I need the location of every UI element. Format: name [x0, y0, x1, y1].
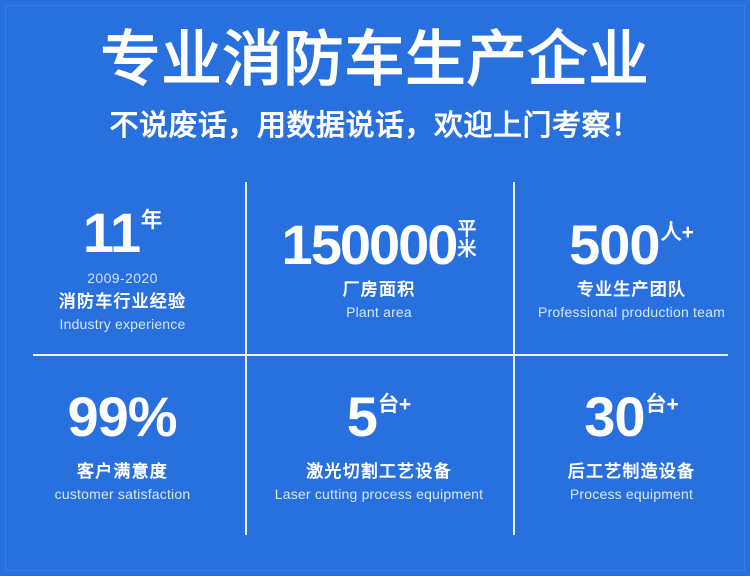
stat-cell-customer-satisfaction: 99% 客户满意度 customer satisfaction [0, 355, 245, 536]
stat-unit [177, 390, 178, 394]
stat-number: 99% [67, 390, 176, 443]
stat-number-row: 11 年 [83, 206, 162, 259]
stat-number-row: 150000 平 米 [282, 218, 477, 271]
stat-unit: 台+ [645, 390, 679, 415]
stat-label-cn: 消防车行业经验 [59, 293, 186, 310]
stat-label-cn: 厂房面积 [343, 281, 416, 298]
stat-number: 30 [584, 390, 644, 443]
banner-header: 专业消防车生产企业 不说废话，用数据说话，欢迎上门考察！ [0, 0, 750, 141]
stat-number: 5 [347, 390, 377, 443]
stat-label-cn: 后工艺制造设备 [568, 463, 695, 480]
stat-unit: 平 米 [456, 218, 476, 260]
stat-label-cn: 专业生产团队 [577, 281, 686, 298]
stat-number-row: 500 人+ [569, 218, 694, 271]
stat-unit-char-2: 米 [457, 240, 476, 260]
stat-cell-process-equipment: 30 台+ 后工艺制造设备 Process equipment [513, 355, 750, 536]
stat-label-en: Laser cutting process equipment [275, 487, 484, 501]
stat-number: 150000 [282, 218, 457, 271]
stat-label-en: Plant area [346, 305, 412, 319]
stat-unit-char-1: 平 [457, 220, 476, 240]
page-title: 专业消防车生产企业 [0, 0, 750, 90]
stat-number: 11 [83, 206, 140, 259]
stat-number-row: 5 台+ [347, 390, 411, 443]
stat-cell-production-team: 500 人+ 专业生产团队 Professional production te… [513, 182, 750, 355]
stat-cell-laser-cutting: 5 台+ 激光切割工艺设备 Laser cutting process equi… [245, 355, 513, 536]
stat-number-row: 30 台+ [584, 390, 679, 443]
page-subtitle: 不说废话，用数据说话，欢迎上门考察！ [0, 90, 750, 141]
stat-label-en: Professional production team [538, 305, 725, 319]
stat-cell-industry-experience: 11 年 2009-2020 消防车行业经验 Industry experien… [0, 182, 245, 355]
stat-label-en: customer satisfaction [55, 487, 191, 501]
stat-unit: 人+ [660, 218, 694, 243]
stat-number: 500 [569, 218, 659, 271]
stat-number-row: 99% [67, 390, 177, 443]
stat-label-cn: 客户满意度 [77, 463, 168, 480]
stat-label-en: Process equipment [570, 487, 693, 501]
stat-cell-plant-area: 150000 平 米 厂房面积 Plant area [245, 182, 513, 355]
promo-banner: 专业消防车生产企业 不说废话，用数据说话，欢迎上门考察！ 11 年 2009-2… [0, 0, 750, 576]
stat-unit: 台+ [377, 390, 411, 415]
stat-label-cn: 激光切割工艺设备 [306, 463, 452, 480]
stat-label-en: Industry experience [60, 317, 186, 331]
stat-unit: 年 [140, 206, 162, 231]
stat-year-range: 2009-2020 [87, 271, 158, 285]
stats-grid: 11 年 2009-2020 消防车行业经验 Industry experien… [0, 182, 750, 536]
